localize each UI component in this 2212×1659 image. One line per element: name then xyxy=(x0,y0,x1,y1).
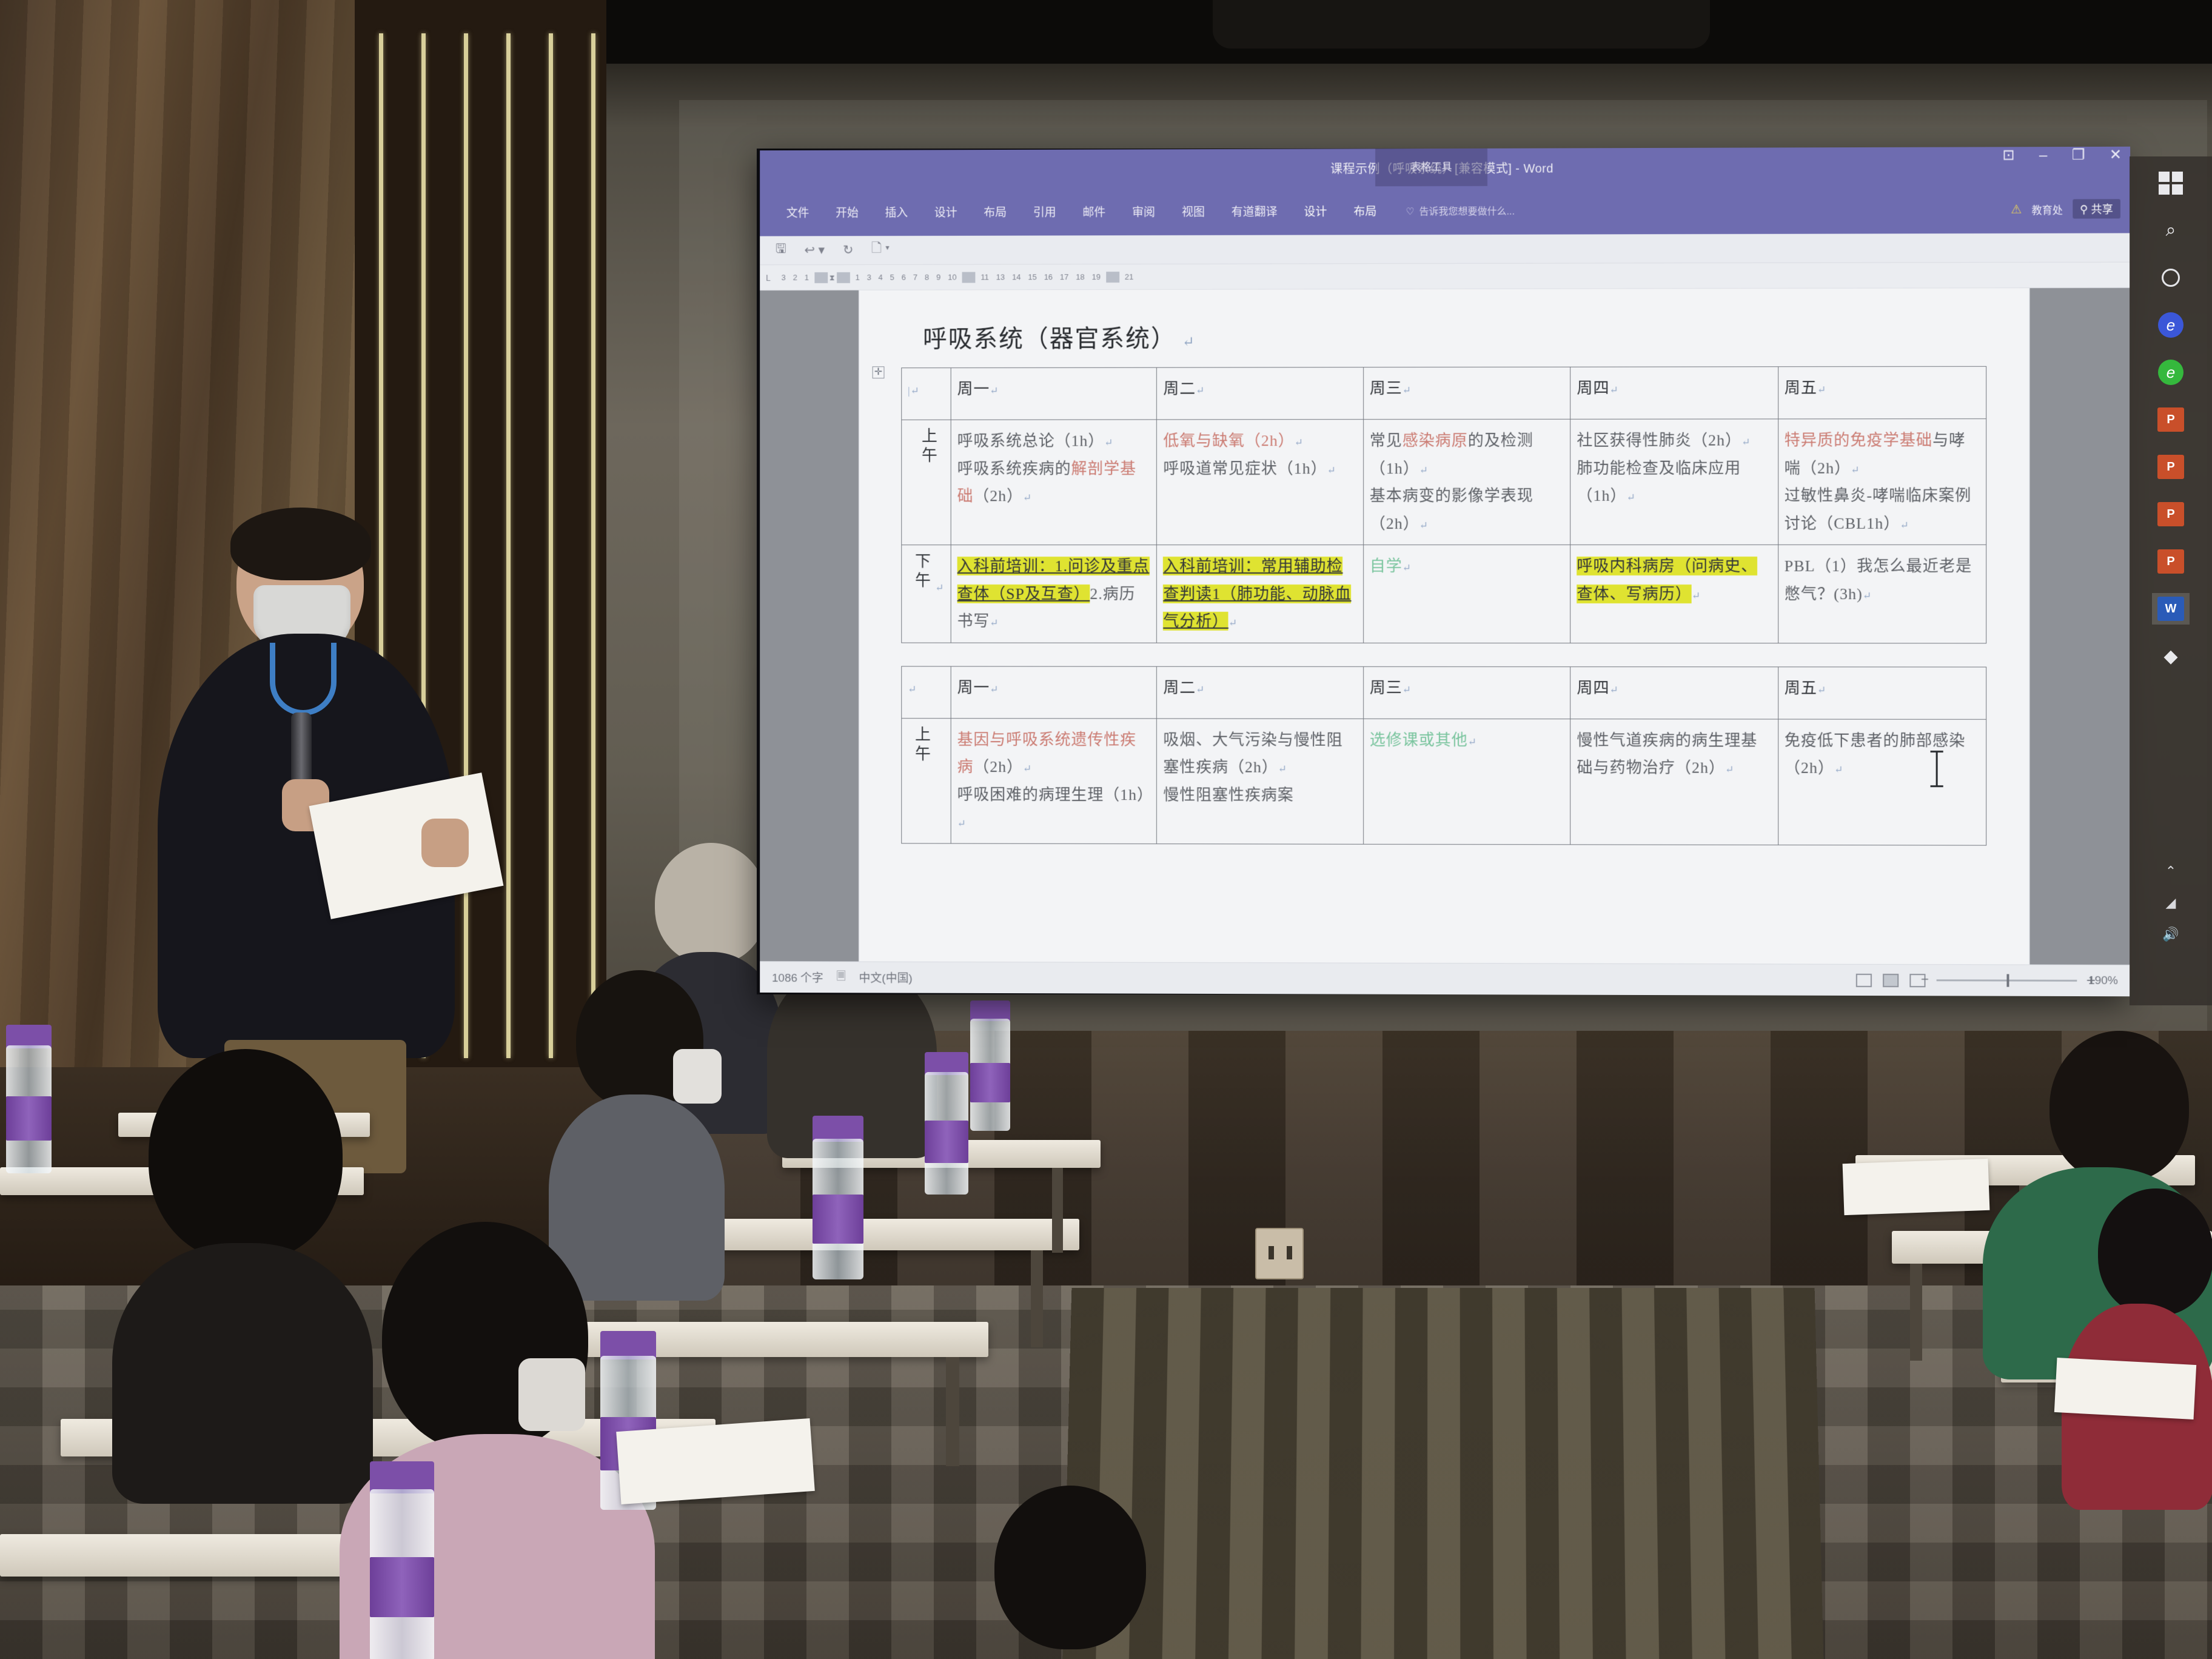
ruler-tick: 10 xyxy=(944,273,960,282)
ruler-tick: 2 xyxy=(789,273,801,282)
water-bottle xyxy=(813,1116,863,1279)
spelling-check-icon[interactable]: 🗏 xyxy=(837,968,846,987)
lecture-hall-scene: 表格工具 课程示例（呼吸系统）[兼容模式] - Word ⊡ – ❐ ✕ 文件 … xyxy=(0,0,2212,1659)
ruler-tick: 17 xyxy=(1056,272,1072,281)
cell-tue-morning-2[interactable]: 吸烟、大气污染与慢性阻塞性疾病（2h）↵ 慢性阻塞性疾病案 xyxy=(1157,719,1364,844)
audience-member xyxy=(112,1049,373,1473)
header-mon[interactable]: 周一↵ xyxy=(951,666,1157,718)
desk-leg xyxy=(1031,1250,1043,1347)
water-bottle xyxy=(970,1000,1010,1131)
ruler-tick: 5 xyxy=(886,273,898,282)
cell-line: （2h） xyxy=(973,487,1023,504)
header-fri[interactable]: 周五↵ xyxy=(1778,366,1986,419)
green-browser-icon[interactable]: e xyxy=(2152,357,2190,388)
row-label-morning-2[interactable]: 上午 xyxy=(902,718,951,843)
desk-leg xyxy=(1052,1168,1063,1253)
cell-wed-morning-2[interactable]: 选修课或其他↵ xyxy=(1363,719,1570,845)
tell-me-text: 告诉我您想要做什么... xyxy=(1419,207,1515,217)
zoom-slider-knob[interactable] xyxy=(2007,974,2009,987)
ruler-tick: 19 xyxy=(1088,272,1104,281)
table-row[interactable]: 上午 呼吸系统总论（1h）↵ 呼吸系统疾病的解剖学基础（2h）↵ 低氧与缺氧（2… xyxy=(902,419,1986,545)
header-mon[interactable]: 周一↵ xyxy=(951,367,1157,420)
ribbon-tab-bar[interactable]: 文件 开始 插入 设计 布局 引用 邮件 审阅 视图 有道翻译 设计 布局 ♡告… xyxy=(760,184,2130,236)
horizontal-ruler[interactable]: L 3 2 1 ⧗ 1 3 4 5 6 7 8 9 10 11 13 14 xyxy=(760,263,2130,290)
cell-fri-afternoon[interactable]: PBL（1）我怎么最近老是憋气？(3h)↵ xyxy=(1778,545,1986,643)
cell-line: 常见 xyxy=(1370,432,1403,449)
ribbon-tab-view[interactable]: 视图 xyxy=(1168,203,1218,219)
pilcrow-icon: ↵ xyxy=(1182,335,1196,350)
day-label: 周二 xyxy=(1163,380,1196,398)
cell-line-red: 低氧与缺氧（2h） xyxy=(1163,432,1294,449)
status-right-group[interactable]: − + 190% xyxy=(1856,973,2118,987)
windows-taskbar[interactable]: ⌕ e e P P P P W ◆ ⌃ ◢ 🔊 xyxy=(2130,156,2212,1005)
ruler-tick: 21 xyxy=(1121,272,1137,281)
ribbon-tab-table-layout[interactable]: 布局 xyxy=(1340,203,1390,219)
audience-member xyxy=(2062,1188,2212,1504)
ribbon-tab-review[interactable]: 审阅 xyxy=(1119,203,1168,220)
face-mask xyxy=(518,1358,585,1431)
search-icon[interactable]: ⌕ xyxy=(2152,215,2190,246)
cell-wed-afternoon[interactable]: 自学↵ xyxy=(1363,545,1570,643)
title-bar: 表格工具 课程示例（呼吸系统）[兼容模式] - Word ⊡ – ❐ ✕ xyxy=(760,147,2130,188)
cell-line: 慢性阻塞性疾病案 xyxy=(1163,786,1293,803)
corner-cell[interactable]: ↵ xyxy=(902,666,951,718)
document-page[interactable]: 呼吸系统（器官系统）↵ ✛ |↵ 周一↵ 周二↵ 周三↵ 周四↵ xyxy=(859,288,2029,964)
document-heading: 呼吸系统（器官系统）↵ xyxy=(923,317,1986,354)
ruler-tick: 18 xyxy=(1072,272,1088,281)
table-move-handle[interactable]: ✛ xyxy=(873,366,885,378)
tab-stop-selector[interactable]: L xyxy=(766,273,771,283)
system-tray[interactable]: ⌃ ◢ 🔊 xyxy=(2130,854,2212,1005)
wall-outlet xyxy=(1255,1228,1304,1279)
edge-browser-icon[interactable]: e xyxy=(2152,309,2190,341)
water-bottle xyxy=(925,1052,968,1195)
cell-mon-morning[interactable]: 呼吸系统总论（1h）↵ 呼吸系统疾病的解剖学基础（2h）↵ xyxy=(951,420,1157,545)
table-row[interactable]: 下午↵ 入科前培训：1.问诊及重点查体（SP及互查）2.病历书写↵ 入科前培训：… xyxy=(902,545,1986,643)
powerpoint-window-1[interactable]: P xyxy=(2152,451,2190,483)
cell-thu-afternoon[interactable]: 呼吸内科病房（问病史、查体、写病历）↵ xyxy=(1570,545,1778,643)
windows-logo-icon xyxy=(2159,172,2183,195)
chevron-up-icon[interactable]: ⌃ xyxy=(2165,863,2176,879)
ribbon-tab-mailings[interactable]: 邮件 xyxy=(1070,203,1119,220)
table-row-header[interactable]: ↵ 周一↵ 周二↵ 周三↵ 周四↵ 周五↵ xyxy=(902,666,1986,719)
warning-icon: ⚠ xyxy=(2011,201,2022,216)
cell-line-green: 自学 xyxy=(1370,557,1403,575)
water-bottle xyxy=(6,1025,52,1173)
table-row-header[interactable]: |↵ 周一↵ 周二↵ 周三↵ 周四↵ 周五↵ xyxy=(902,366,1986,420)
quick-access-toolbar[interactable]: 🖫 ↩ ▾ ↻ 🗋 ▾ xyxy=(760,233,2130,265)
cell-line-highlight: 入科前培训：常用辅助检查判读1（肺功能、动脉血气分析） xyxy=(1163,557,1351,631)
touch-mouse-mode-icon[interactable]: 🗋 ▾ xyxy=(871,240,890,261)
ribbon-tab-youdao[interactable]: 有道翻译 xyxy=(1218,203,1291,219)
word-window[interactable]: 表格工具 课程示例（呼吸系统）[兼容模式] - Word ⊡ – ❐ ✕ 文件 … xyxy=(760,147,2130,996)
ruler-column-block xyxy=(962,272,976,283)
read-mode-view-icon[interactable] xyxy=(1856,973,1872,987)
row-label-text: 上午 xyxy=(908,726,935,765)
powerpoint-window-3[interactable]: P xyxy=(2152,546,2190,577)
corner-cell[interactable]: |↵ xyxy=(902,368,951,420)
undo-icon[interactable]: ↩ ▾ xyxy=(804,243,825,258)
window-controls[interactable]: ⊡ – ❐ ✕ xyxy=(2002,148,2122,163)
print-layout-view-icon[interactable] xyxy=(1883,973,1899,987)
header-tue[interactable]: 周二↵ xyxy=(1157,367,1364,420)
day-label: 周一 xyxy=(957,679,990,696)
save-icon[interactable]: 🖫 xyxy=(776,240,786,261)
row-label-text: 下午 xyxy=(908,552,935,591)
cell-thu-morning-2[interactable]: 慢性气道疾病的病生理基础与药物治疗（2h）↵ xyxy=(1570,719,1778,845)
cell-line: 社区获得性肺炎（2h） xyxy=(1577,432,1741,449)
day-label: 周四 xyxy=(1577,679,1609,697)
ribbon-tab-home[interactable]: 开始 xyxy=(822,204,871,220)
redo-icon[interactable]: ↻ xyxy=(843,243,853,258)
document-canvas[interactable]: 呼吸系统（器官系统）↵ ✛ |↵ 周一↵ 周二↵ 周三↵ 周四↵ xyxy=(760,288,2130,965)
word-icon[interactable]: W xyxy=(2152,593,2190,625)
contextual-tab-group-label: 表格工具 xyxy=(1375,158,1487,173)
ruler-tick: 4 xyxy=(875,273,886,282)
close-icon[interactable]: ✕ xyxy=(2110,148,2122,163)
zoom-slider[interactable]: − + xyxy=(1937,979,2077,982)
cell-line: PBL（1）我怎么最近老是憋气？(3h) xyxy=(1785,557,1972,603)
ruler-tick: 1 xyxy=(852,273,863,282)
ruler-tick: 11 xyxy=(977,272,992,281)
day-label: 周五 xyxy=(1785,379,1817,397)
schedule-table-week1[interactable]: |↵ 周一↵ 周二↵ 周三↵ 周四↵ 周五↵ 上午 xyxy=(901,366,1986,643)
cell-line: 吸烟、大气污染与慢性阻塞性疾病（2h） xyxy=(1163,731,1342,776)
header-thu[interactable]: 周四↵ xyxy=(1570,666,1778,719)
ruler-tick: 1 xyxy=(801,273,813,282)
desk-row xyxy=(691,1219,1079,1250)
restore-icon[interactable]: ❐ xyxy=(2072,148,2085,163)
pilcrow-icon: |↵ xyxy=(908,385,920,397)
cell-line-red: 特异质的免疫学基础 xyxy=(1785,431,1932,449)
center-aisle-carpet xyxy=(1062,1288,1823,1659)
minimize-icon[interactable]: – xyxy=(2039,148,2047,163)
cell-thu-morning[interactable]: 社区获得性肺炎（2h）↵ 肺功能检查及临床应用（1h）↵ xyxy=(1570,419,1778,545)
ribbon-tab-design[interactable]: 设计 xyxy=(921,203,970,220)
ribbon-tab-table-design[interactable]: 设计 xyxy=(1290,203,1340,219)
projection-screen: 表格工具 课程示例（呼吸系统）[兼容模式] - Word ⊡ – ❐ ✕ 文件 … xyxy=(757,149,2127,994)
ribbon-display-options-icon[interactable]: ⊡ xyxy=(2002,148,2014,163)
ruler-tick: 13 xyxy=(993,272,1008,281)
zoom-in-icon[interactable]: + xyxy=(2086,971,2096,990)
day-label: 周四 xyxy=(1577,380,1609,397)
account-name[interactable]: 教育处 xyxy=(2032,201,2063,216)
ruler-tick: 6 xyxy=(898,273,910,282)
cell-line: 基本病变的影像学表现（2h） xyxy=(1370,487,1533,532)
language-indicator[interactable]: 中文(中国) xyxy=(859,969,913,985)
lanyard xyxy=(270,643,337,716)
cell-wed-morning[interactable]: 常见感染病原的及检测（1h）↵ 基本病变的影像学表现（2h）↵ xyxy=(1363,419,1570,545)
day-label: 周三 xyxy=(1370,380,1403,397)
cell-line: 呼吸困难的病理生理（1h） xyxy=(957,785,1153,803)
cell-mon-morning-2[interactable]: 基因与呼吸系统遗传性疾病（2h）↵ 呼吸困难的病理生理（1h）↵ xyxy=(951,718,1157,843)
table-row[interactable]: 上午 基因与呼吸系统遗传性疾病（2h）↵ 呼吸困难的病理生理（1h）↵ 吸烟、大… xyxy=(902,718,1986,845)
account-and-share[interactable]: ⚠ 教育处 ⚲ 共享 xyxy=(2011,199,2120,219)
start-button[interactable] xyxy=(2152,167,2190,199)
cell-line-red: 感染病原 xyxy=(1403,432,1468,449)
water-bottle xyxy=(370,1461,434,1659)
header-thu[interactable]: 周四↵ xyxy=(1570,367,1778,420)
cell-line: 过敏性鼻炎-哮喘临床案例讨论（CBL1h） xyxy=(1785,487,1971,532)
cell-line: 呼吸系统疾病的 xyxy=(957,460,1071,477)
ruler-tick: 3 xyxy=(778,273,789,282)
handout xyxy=(1843,1159,1990,1215)
powerpoint-window-2[interactable]: P xyxy=(2152,498,2190,530)
ribbon-tab-insert[interactable]: 插入 xyxy=(872,204,921,220)
ruler-tick: 16 xyxy=(1041,272,1056,281)
network-icon[interactable]: ◢ xyxy=(2166,895,2176,911)
day-label: 周一 xyxy=(957,380,990,398)
zoom-out-icon[interactable]: − xyxy=(1921,971,1929,987)
ruler-tick: 14 xyxy=(1008,272,1024,281)
header-wed[interactable]: 周三↵ xyxy=(1363,666,1570,719)
word-count[interactable]: 1086 个字 xyxy=(772,969,823,985)
ceiling-recess xyxy=(1213,0,1710,49)
tell-me-box[interactable]: ♡告诉我您想要做什么... xyxy=(1406,203,1515,218)
row-label-afternoon[interactable]: 下午↵ xyxy=(902,545,951,643)
share-label: 共享 xyxy=(2091,203,2113,215)
cell-line: （2h） xyxy=(973,758,1023,776)
header-fri[interactable]: 周五↵ xyxy=(1778,666,1986,719)
cell-mon-afternoon[interactable]: 入科前培训：1.问诊及重点查体（SP及互查）2.病历书写↵ xyxy=(951,545,1157,643)
paragraph-spacer xyxy=(901,643,1986,666)
cell-line-green: 选修课或其他 xyxy=(1370,731,1468,748)
desk-leg xyxy=(946,1357,959,1466)
cell-line: 呼吸系统总论（1h） xyxy=(957,432,1105,450)
ruler-tick: 15 xyxy=(1024,272,1040,281)
cell-tue-morning[interactable]: 低氧与缺氧（2h）↵ 呼吸道常见症状（1h）↵ xyxy=(1157,420,1364,545)
cell-line: 肺功能检查及临床应用（1h） xyxy=(1577,459,1741,504)
presenter-hand-2 xyxy=(421,819,469,867)
person-add-icon: ⚲ xyxy=(2080,203,2088,215)
ruler-tick: 8 xyxy=(921,273,933,282)
schedule-table-week2[interactable]: ↵ 周一↵ 周二↵ 周三↵ 周四↵ 周五↵ 上午 xyxy=(901,666,1986,845)
ribbon-tab-layout[interactable]: 布局 xyxy=(971,203,1021,220)
handout xyxy=(2054,1358,2196,1419)
face-mask xyxy=(673,1049,722,1104)
header-tue[interactable]: 周二↵ xyxy=(1157,666,1364,719)
desk-leg xyxy=(1910,1264,1922,1361)
presenter xyxy=(146,512,467,1125)
cell-line: 免疫低下患者的肺部感染（2h） xyxy=(1785,731,1966,777)
indent-marker-icon[interactable]: ⧗ xyxy=(829,272,835,282)
heading-text: 呼吸系统（器官系统） xyxy=(923,325,1176,353)
row-label-morning[interactable]: 上午 xyxy=(902,420,951,545)
ribbon-tab-references[interactable]: 引用 xyxy=(1020,203,1070,220)
ribbon-tab-file[interactable]: 文件 xyxy=(773,204,822,220)
day-label: 周五 xyxy=(1785,679,1817,697)
cell-line: 呼吸道常见症状（1h） xyxy=(1163,460,1327,477)
ruler-margin-block xyxy=(814,272,828,283)
ruler-tick: 9 xyxy=(933,273,944,282)
ruler-column-block xyxy=(1106,272,1119,283)
ruler-margin-block xyxy=(837,272,850,283)
lightbulb-icon: ♡ xyxy=(1406,207,1414,217)
volume-icon[interactable]: 🔊 xyxy=(2162,927,2179,942)
pin-icon[interactable]: ◆ xyxy=(2152,640,2190,672)
status-bar[interactable]: 1086 个字 🗏 中文(中国) − + 190% xyxy=(760,961,2130,996)
ruler-tick: 3 xyxy=(863,273,875,282)
share-button[interactable]: ⚲ 共享 xyxy=(2073,199,2120,218)
audience-member xyxy=(970,1486,1176,1659)
powerpoint-icon[interactable]: P xyxy=(2152,404,2190,435)
row-label-text: 上午 xyxy=(908,427,948,466)
cell-line-highlight: 呼吸内科病房（问病史、查体、写病历） xyxy=(1577,557,1757,603)
day-label: 周三 xyxy=(1370,679,1403,696)
cell-fri-morning-2[interactable]: 免疫低下患者的肺部感染（2h）↵ xyxy=(1778,719,1986,845)
day-label: 周二 xyxy=(1163,679,1196,696)
handout xyxy=(616,1418,815,1504)
cell-tue-afternoon[interactable]: 入科前培训：常用辅助检查判读1（肺功能、动脉血气分析）↵ xyxy=(1157,545,1364,643)
cell-fri-morning[interactable]: 特异质的免疫学基础与哮喘（2h）↵ 过敏性鼻炎-哮喘临床案例讨论（CBL1h）↵ xyxy=(1778,419,1986,545)
text-cursor-icon xyxy=(1936,751,1938,787)
header-wed[interactable]: 周三↵ xyxy=(1363,367,1570,419)
cortana-icon[interactable] xyxy=(2152,262,2190,293)
ruler-tick: 7 xyxy=(910,273,921,282)
